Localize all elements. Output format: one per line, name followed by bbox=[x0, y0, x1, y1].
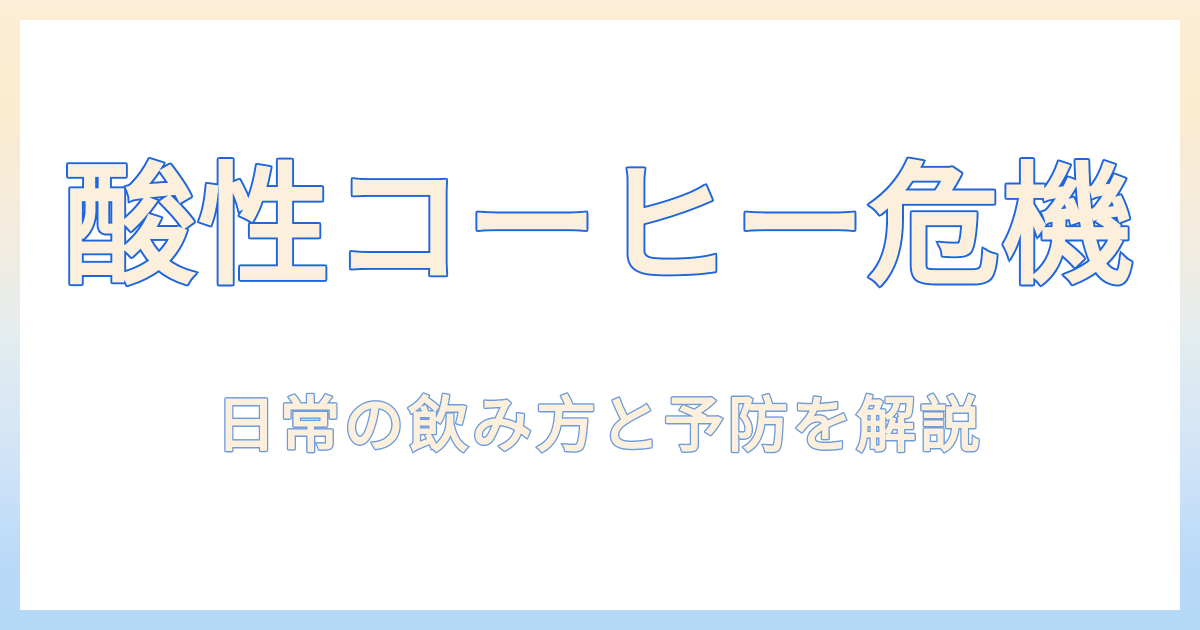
thumbnail-canvas: 酸性コーヒー危機 酸性コーヒー危機 日常の飲み方と予防を解説 日常の飲み方と予防… bbox=[0, 0, 1200, 630]
page-subtitle: 日常の飲み方と予防を解説 日常の飲み方と予防を解説 bbox=[216, 395, 984, 458]
card-content: 酸性コーヒー危機 酸性コーヒー危機 日常の飲み方と予防を解説 日常の飲み方と予防… bbox=[20, 20, 1180, 610]
title-block: 酸性コーヒー危機 酸性コーヒー危機 bbox=[20, 160, 1180, 295]
page-title: 酸性コーヒー危機 酸性コーヒー危機 bbox=[64, 160, 1136, 295]
white-panel: 酸性コーヒー危機 酸性コーヒー危機 日常の飲み方と予防を解説 日常の飲み方と予防… bbox=[20, 20, 1180, 610]
page-subtitle-fill: 日常の飲み方と予防を解説 bbox=[216, 395, 984, 458]
subtitle-block: 日常の飲み方と予防を解説 日常の飲み方と予防を解説 bbox=[20, 395, 1180, 458]
page-title-fill: 酸性コーヒー危機 bbox=[64, 160, 1136, 295]
